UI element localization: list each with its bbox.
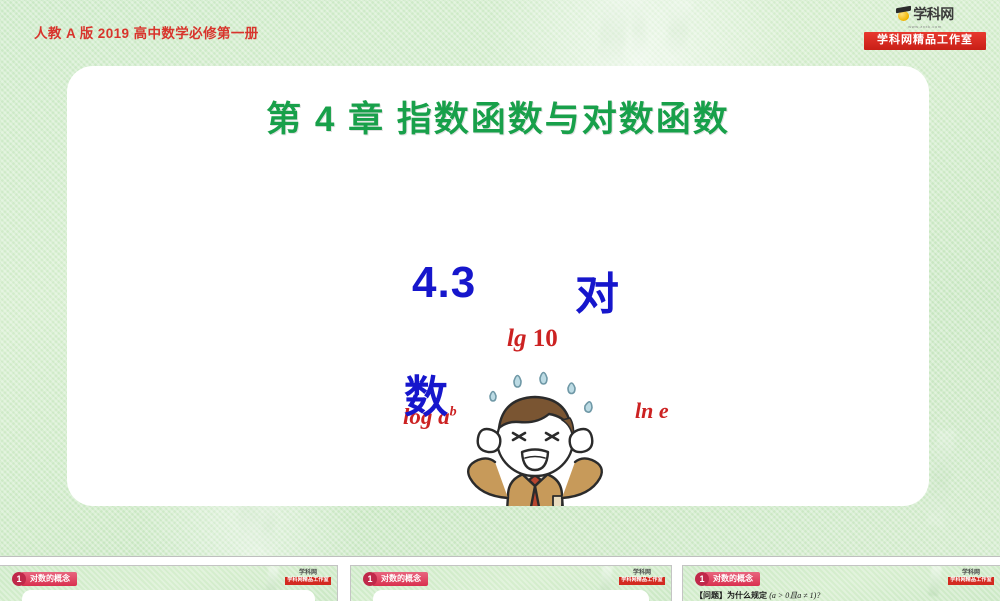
slide-canvas[interactable]: 人教 A 版 2019 高中数学必修第一册 学科网 www.zxxk.com 学… xyxy=(0,0,1000,556)
log-exponent: b xyxy=(450,404,457,419)
badge-label: 对数的概念 xyxy=(372,572,428,586)
thumbnail-brand-name: 学科网 xyxy=(619,570,665,576)
lg-argument: 10 xyxy=(533,325,558,352)
ln-operator: ln xyxy=(635,398,653,423)
math-expression-lg10: lg 10 xyxy=(507,325,558,353)
thumbnail-question-text: 【问题】为什么规定 (a > 0且a ≠ 1)? xyxy=(695,590,820,601)
background-watermark-streak xyxy=(630,0,649,64)
chapter-title: 第 4 章 指数函数与对数函数 xyxy=(67,91,929,142)
textbook-edition-label: 人教 A 版 2019 高中数学必修第一册 xyxy=(34,22,296,46)
thumbnail-brand-name: 学科网 xyxy=(948,570,994,576)
thumbnail-brand-bar: 学科网精品工作室 xyxy=(619,577,665,585)
thumbnail-brand-name: 学科网 xyxy=(285,570,331,576)
ln-argument: e xyxy=(659,398,669,423)
background-watermark-streak xyxy=(926,429,956,526)
graduation-cap-icon xyxy=(896,7,911,21)
thumbnail-section-badge: 1 对数的概念 xyxy=(695,572,760,586)
slide-thumbnail-3[interactable]: 1 对数的概念 【问题】为什么规定 (a > 0且a ≠ 1)? 学科网 学科网… xyxy=(682,565,1000,601)
background-watermark-streak xyxy=(663,0,692,63)
thumbnail-brand-logo: 学科网 学科网精品工作室 xyxy=(285,570,331,585)
slide-thumbnail-1[interactable]: 1 对数的概念 学科网 学科网精品工作室 xyxy=(0,565,338,601)
slide-thumbnail-2[interactable]: 1 对数的概念 学科网 学科网精品工作室 xyxy=(350,565,672,601)
thumbnail-content-card xyxy=(22,590,315,601)
slide-thumbnail-filmstrip[interactable]: 1 对数的概念 学科网 学科网精品工作室 1 对数的概念 学科网 学科网精品工作… xyxy=(0,556,1000,600)
lg-operator: lg xyxy=(507,325,526,352)
brand-studio-bar: 学科网精品工作室 xyxy=(864,32,986,50)
thumbnail-content-card xyxy=(373,590,649,601)
frustrated-student-illustration xyxy=(422,348,657,506)
thumbnail-watermark xyxy=(928,566,942,597)
badge-label: 对数的概念 xyxy=(21,572,77,586)
thumbnail-brand-logo: 学科网 学科网精品工作室 xyxy=(619,570,665,585)
brand-logo-block: 学科网 www.zxxk.com 学科网精品工作室 xyxy=(864,4,986,50)
brand-url: www.zxxk.com xyxy=(864,25,986,29)
brand-logo-row: 学科网 xyxy=(864,4,986,24)
thumbnail-section-badge: 1 对数的概念 xyxy=(363,572,428,586)
section-number: 4.3 xyxy=(412,258,476,308)
brand-name: 学科网 xyxy=(913,7,954,21)
question-math: (a > 0且a ≠ 1)? xyxy=(769,591,820,600)
section-title-char-2: 数 xyxy=(404,361,448,425)
slide-content-card: 第 4 章 指数函数与对数函数 4.3 对 数 lg 10 log ab ln … xyxy=(67,66,929,506)
thumbnail-brand-logo: 学科网 学科网精品工作室 xyxy=(948,570,994,585)
thumbnail-brand-bar: 学科网精品工作室 xyxy=(948,577,994,585)
question-prefix: 【问题】为什么规定 xyxy=(695,591,767,600)
thumbnail-brand-bar: 学科网精品工作室 xyxy=(285,577,331,585)
thumbnail-section-badge: 1 对数的概念 xyxy=(12,572,77,586)
badge-label: 对数的概念 xyxy=(704,572,760,586)
math-expression-ln-e: ln e xyxy=(635,398,669,424)
section-title-char-1: 对 xyxy=(575,258,619,322)
